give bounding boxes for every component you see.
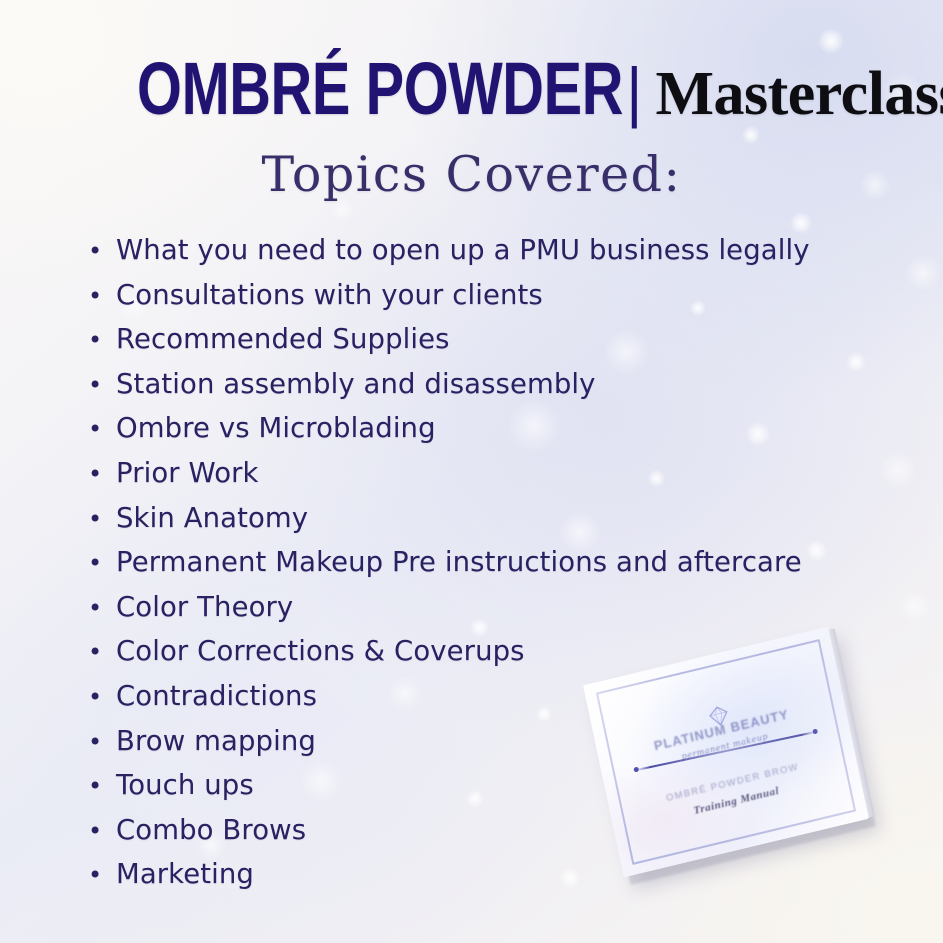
topic-list-item: •Permanent Makeup Pre instructions and a… — [88, 546, 908, 591]
bokeh-sparkle — [818, 28, 844, 54]
title-script-text: Masterclass — [655, 63, 943, 125]
title-main-text: OMBRÉ POWDER — [137, 52, 623, 126]
topic-list-item: •Contradictions — [88, 680, 908, 725]
bullet-icon: • — [88, 328, 116, 352]
topic-label: Consultations with your clients — [116, 279, 543, 311]
topic-label: Prior Work — [116, 457, 259, 489]
topic-list-item: •Skin Anatomy — [88, 502, 908, 547]
subtitle-topics-covered: Topics Covered: — [0, 150, 943, 199]
topic-label: Contradictions — [116, 680, 317, 712]
bullet-icon: • — [88, 239, 116, 263]
topic-label: What you need to open up a PMU business … — [116, 234, 810, 266]
topic-label: Combo Brows — [116, 814, 306, 846]
page-title: OMBRÉ POWDER|Masterclass — [0, 52, 943, 126]
topic-list-item: •Marketing — [88, 858, 908, 903]
bullet-icon: • — [88, 685, 116, 709]
bullet-icon: • — [88, 863, 116, 887]
bokeh-sparkle — [742, 126, 760, 144]
bullet-icon: • — [88, 819, 116, 843]
poster-canvas: OMBRÉ POWDER|Masterclass Topics Covered:… — [0, 0, 943, 943]
topic-label: Color Corrections & Coverups — [116, 635, 525, 667]
topics-list: •What you need to open up a PMU business… — [88, 234, 908, 903]
topic-list-item: •Station assembly and disassembly — [88, 368, 908, 413]
topic-label: Ombre vs Microblading — [116, 412, 436, 444]
topic-list-item: •Ombre vs Microblading — [88, 412, 908, 457]
bullet-icon: • — [88, 730, 116, 754]
topic-list-item: •Consultations with your clients — [88, 279, 908, 324]
topic-label: Color Theory — [116, 591, 293, 623]
topic-label: Marketing — [116, 858, 254, 890]
bullet-icon: • — [88, 417, 116, 441]
topic-label: Permanent Makeup Pre instructions and af… — [116, 546, 802, 578]
bullet-icon: • — [88, 596, 116, 620]
bullet-icon: • — [88, 462, 116, 486]
topic-list-item: •Color Theory — [88, 591, 908, 636]
bokeh-sparkle — [790, 212, 812, 234]
bokeh-sparkle — [906, 256, 940, 290]
bullet-icon: • — [88, 640, 116, 664]
topic-list-item: •Color Corrections & Coverups — [88, 635, 908, 680]
bullet-icon: • — [88, 507, 116, 531]
topic-list-item: •Touch ups — [88, 769, 908, 814]
topic-label: Brow mapping — [116, 725, 316, 757]
topic-list-item: •Prior Work — [88, 457, 908, 502]
topic-list-item: •What you need to open up a PMU business… — [88, 234, 908, 279]
topic-label: Touch ups — [116, 769, 254, 801]
bullet-icon: • — [88, 551, 116, 575]
bullet-icon: • — [88, 284, 116, 308]
title-separator: | — [627, 58, 640, 124]
topic-list-item: •Recommended Supplies — [88, 323, 908, 368]
topic-label: Station assembly and disassembly — [116, 368, 596, 400]
topic-label: Recommended Supplies — [116, 323, 450, 355]
bullet-icon: • — [88, 774, 116, 798]
topic-list-item: •Brow mapping — [88, 725, 908, 770]
bullet-icon: • — [88, 373, 116, 397]
topic-list-item: •Combo Brows — [88, 814, 908, 859]
topic-label: Skin Anatomy — [116, 502, 308, 534]
